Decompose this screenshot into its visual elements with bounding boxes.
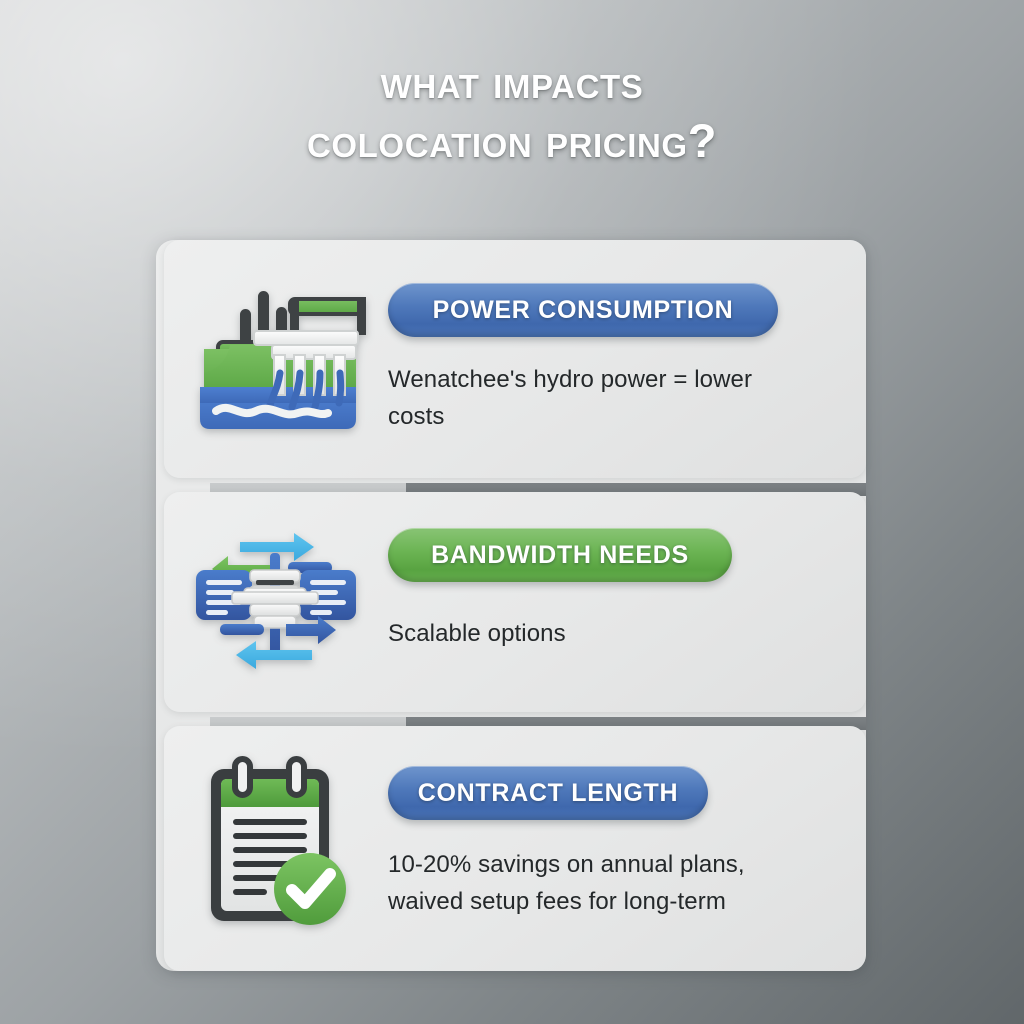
factor-description-power-consumption: Wenatchee's hydro power = lower costs: [388, 361, 778, 435]
factor-card-contract-length[interactable]: CONTRACT LENGTH 10-20% savings on annual…: [164, 726, 866, 971]
factor-card-bandwidth-needs[interactable]: BANDWIDTH NEEDS Scalable options: [164, 492, 866, 712]
page-title-line-2: COLOCATION PRICING?: [90, 111, 934, 170]
icon-column: [164, 240, 388, 478]
factor-badge-power-consumption[interactable]: POWER CONSUMPTION: [388, 283, 778, 337]
page-title: WHAT IMPACTS COLOCATION PRICING?: [0, 52, 1024, 170]
clipboard-check-icon: [197, 753, 355, 944]
factor-badge-bandwidth-needs[interactable]: BANDWIDTH NEEDS: [388, 528, 732, 582]
factor-description-contract-length: 10-20% savings on annual plans, waived s…: [388, 846, 808, 920]
factors-panel: POWER CONSUMPTION Wenatchee's hydro powe…: [156, 240, 866, 971]
page-title-line-1: WHAT IMPACTS: [90, 52, 934, 111]
icon-column: [164, 726, 388, 971]
factor-description-bandwidth-needs: Scalable options: [388, 615, 778, 652]
hydroelectric-dam-icon: [186, 269, 366, 450]
icon-column: [164, 492, 388, 712]
factor-badge-contract-length[interactable]: CONTRACT LENGTH: [388, 766, 708, 820]
factor-card-power-consumption[interactable]: POWER CONSUMPTION Wenatchee's hydro powe…: [164, 240, 866, 478]
network-bandwidth-icon: [190, 520, 362, 685]
